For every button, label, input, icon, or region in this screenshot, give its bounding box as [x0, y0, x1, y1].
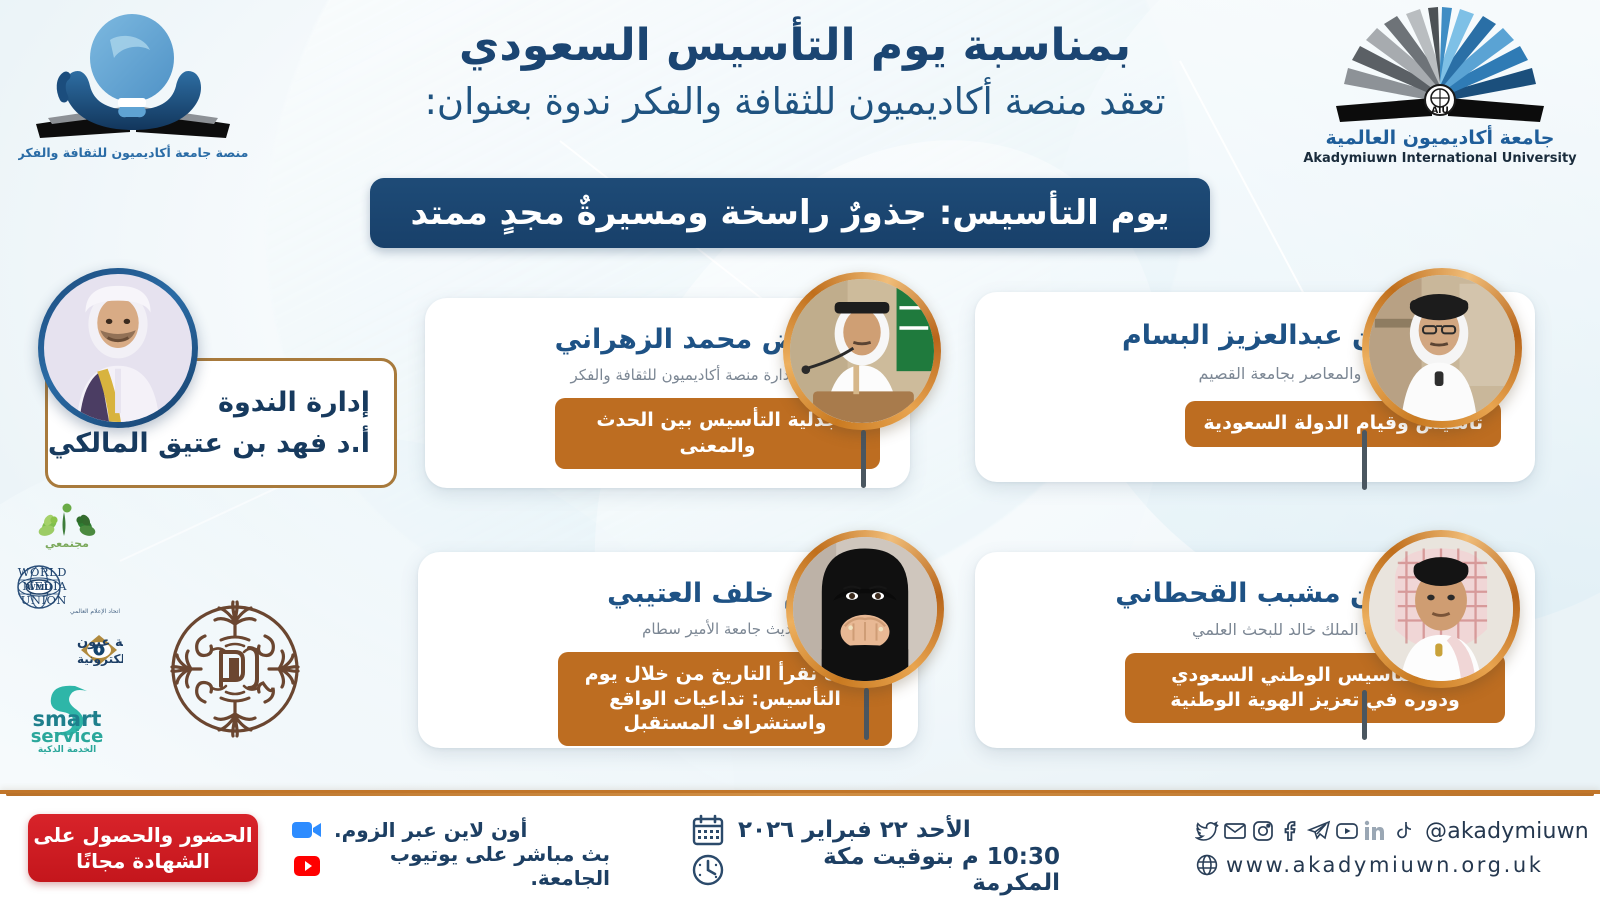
sponsor-mujtamaee: مجتمعي — [8, 500, 126, 552]
speaker-photo-ahmed-albassam — [1362, 268, 1522, 428]
svg-text:UNION: UNION — [21, 593, 67, 607]
clock-icon — [690, 852, 726, 888]
speaker-photo-stem — [864, 688, 869, 740]
svg-text:AIU: AIU — [1431, 106, 1449, 116]
speaker-photo-saeed-alqahtani — [1362, 530, 1520, 688]
calendar-icon — [690, 812, 726, 848]
youtube-text: بث مباشر على يوتيوب الجامعة. — [334, 842, 610, 890]
datetime-info: الأحد ٢٢ فبراير ٢٠٢٦ 10:30 م بتوقيت مكة … — [690, 810, 1060, 890]
sponsor-world-media-union: WMU WORLD MEDIA UNION اتحاد الإعلام العا… — [8, 560, 126, 618]
svg-text:مجتمعي: مجتمعي — [45, 537, 89, 550]
free-attendance-cta-button[interactable]: الحضور والحصول على الشهادة مجانًا — [28, 814, 258, 882]
speaker-photo-stem — [1362, 690, 1367, 740]
svg-text:الخدمة الذكية: الخدمة الذكية — [38, 745, 96, 754]
speaker-photo-stem — [1362, 430, 1367, 490]
sponsor-oyoun-newspaper: صحيفة عيون الإلكترونية — [8, 626, 126, 674]
website-url: www.akadymiuwn.org.uk — [1226, 853, 1544, 877]
time-line: 10:30 م بتوقيت مكة المكرمة — [690, 850, 1060, 890]
moderator-photo — [38, 268, 198, 428]
zoom-text: أون لاين عبر الزوم. — [334, 818, 527, 842]
sponsor-smart-service: smart service الخدمة الذكية — [8, 682, 126, 754]
svg-text:WORLD: WORLD — [18, 565, 67, 579]
saudi-founding-day-emblem — [165, 588, 305, 750]
social-icons-row: @akadymiuwn — [1195, 814, 1585, 848]
svg-text:اتحاد الإعلام العالمي: اتحاد الإعلام العالمي — [70, 608, 120, 615]
youtube-line: بث مباشر على يوتيوب الجامعة. — [290, 848, 610, 884]
header-line-1: بمناسبة يوم التأسيس السعودي — [290, 18, 1300, 73]
broadcast-info: أون لاين عبر الزوم. بث مباشر على يوتيوب … — [290, 812, 610, 884]
website-row[interactable]: www.akadymiuwn.org.uk — [1195, 848, 1585, 882]
svg-text:الإلكترونية: الإلكترونية — [77, 652, 123, 667]
speaker-photo-maryam-alotaibi — [786, 530, 944, 688]
speaker-photo-ayedh-alzahrani — [783, 272, 941, 430]
moderator-name: أ.د فهد بن عتيق المالكي — [178, 428, 370, 459]
linkedin-icon[interactable] — [1363, 819, 1387, 843]
seminar-title-text: يوم التأسيس: جذورٌ راسخة ومسيرةٌ مجدٍ مم… — [410, 193, 1169, 233]
university-logo: AIU جامعة أكاديميون العالمية Akadymiuwn … — [1290, 2, 1590, 172]
poster-canvas: منصة جامعة أكاديميون للثقافة والفكر — [0, 0, 1600, 900]
twitter-icon[interactable] — [1195, 819, 1219, 843]
footer-bar: الحضور والحصول على الشهادة مجانًا أون لا… — [0, 790, 1600, 900]
svg-text:منصة جامعة أكاديميون للثقافة و: منصة جامعة أكاديميون للثقافة والفكر — [18, 144, 248, 160]
header-text-block: بمناسبة يوم التأسيس السعودي تعقد منصة أك… — [290, 18, 1300, 127]
social-handle: @akadymiuwn — [1425, 819, 1589, 844]
speaker-photo-stem — [861, 430, 866, 488]
facebook-icon[interactable] — [1279, 819, 1303, 843]
svg-text:MEDIA: MEDIA — [22, 579, 67, 593]
cta-line-1: الحضور والحصول على — [33, 822, 252, 848]
zoom-video-icon — [290, 817, 324, 843]
event-time: 10:30 م بتوقيت مكة المكرمة — [738, 844, 1060, 896]
header-line-2: تعقد منصة أكاديميون للثقافة والفكر ندوة … — [290, 77, 1300, 127]
sponsor-rail: مجتمعي WMU WORLD MEDIA UNION اتحاد الإعل… — [8, 500, 126, 762]
svg-text:Akadymiuwn International Unive: Akadymiuwn International University — [1303, 151, 1577, 166]
email-icon[interactable] — [1223, 819, 1247, 843]
instagram-icon[interactable] — [1251, 819, 1275, 843]
seminar-title-banner: يوم التأسيس: جذورٌ راسخة ومسيرةٌ مجدٍ مم… — [370, 178, 1210, 248]
youtube-icon — [290, 853, 324, 879]
telegram-icon[interactable] — [1307, 819, 1331, 843]
globe-icon — [1195, 853, 1219, 877]
moderator-section-label: إدارة الندوة — [178, 387, 370, 418]
svg-text:جامعة أكاديميون العالمية: جامعة أكاديميون العالمية — [1326, 125, 1555, 149]
tiktok-icon[interactable] — [1391, 819, 1415, 843]
event-date: الأحد ٢٢ فبراير ٢٠٢٦ — [738, 817, 971, 843]
youtube-icon[interactable] — [1335, 819, 1359, 843]
header: منصة جامعة أكاديميون للثقافة والفكر — [0, 0, 1600, 270]
svg-text:صحيفة عيون: صحيفة عيون — [77, 635, 123, 650]
svg-text:service: service — [31, 726, 104, 747]
platform-logo: منصة جامعة أكاديميون للثقافة والفكر — [18, 6, 248, 166]
cta-line-2: الشهادة مجانًا — [76, 848, 210, 874]
social-info: @akadymiuwn www.akadymiuwn.org.uk — [1195, 814, 1585, 882]
